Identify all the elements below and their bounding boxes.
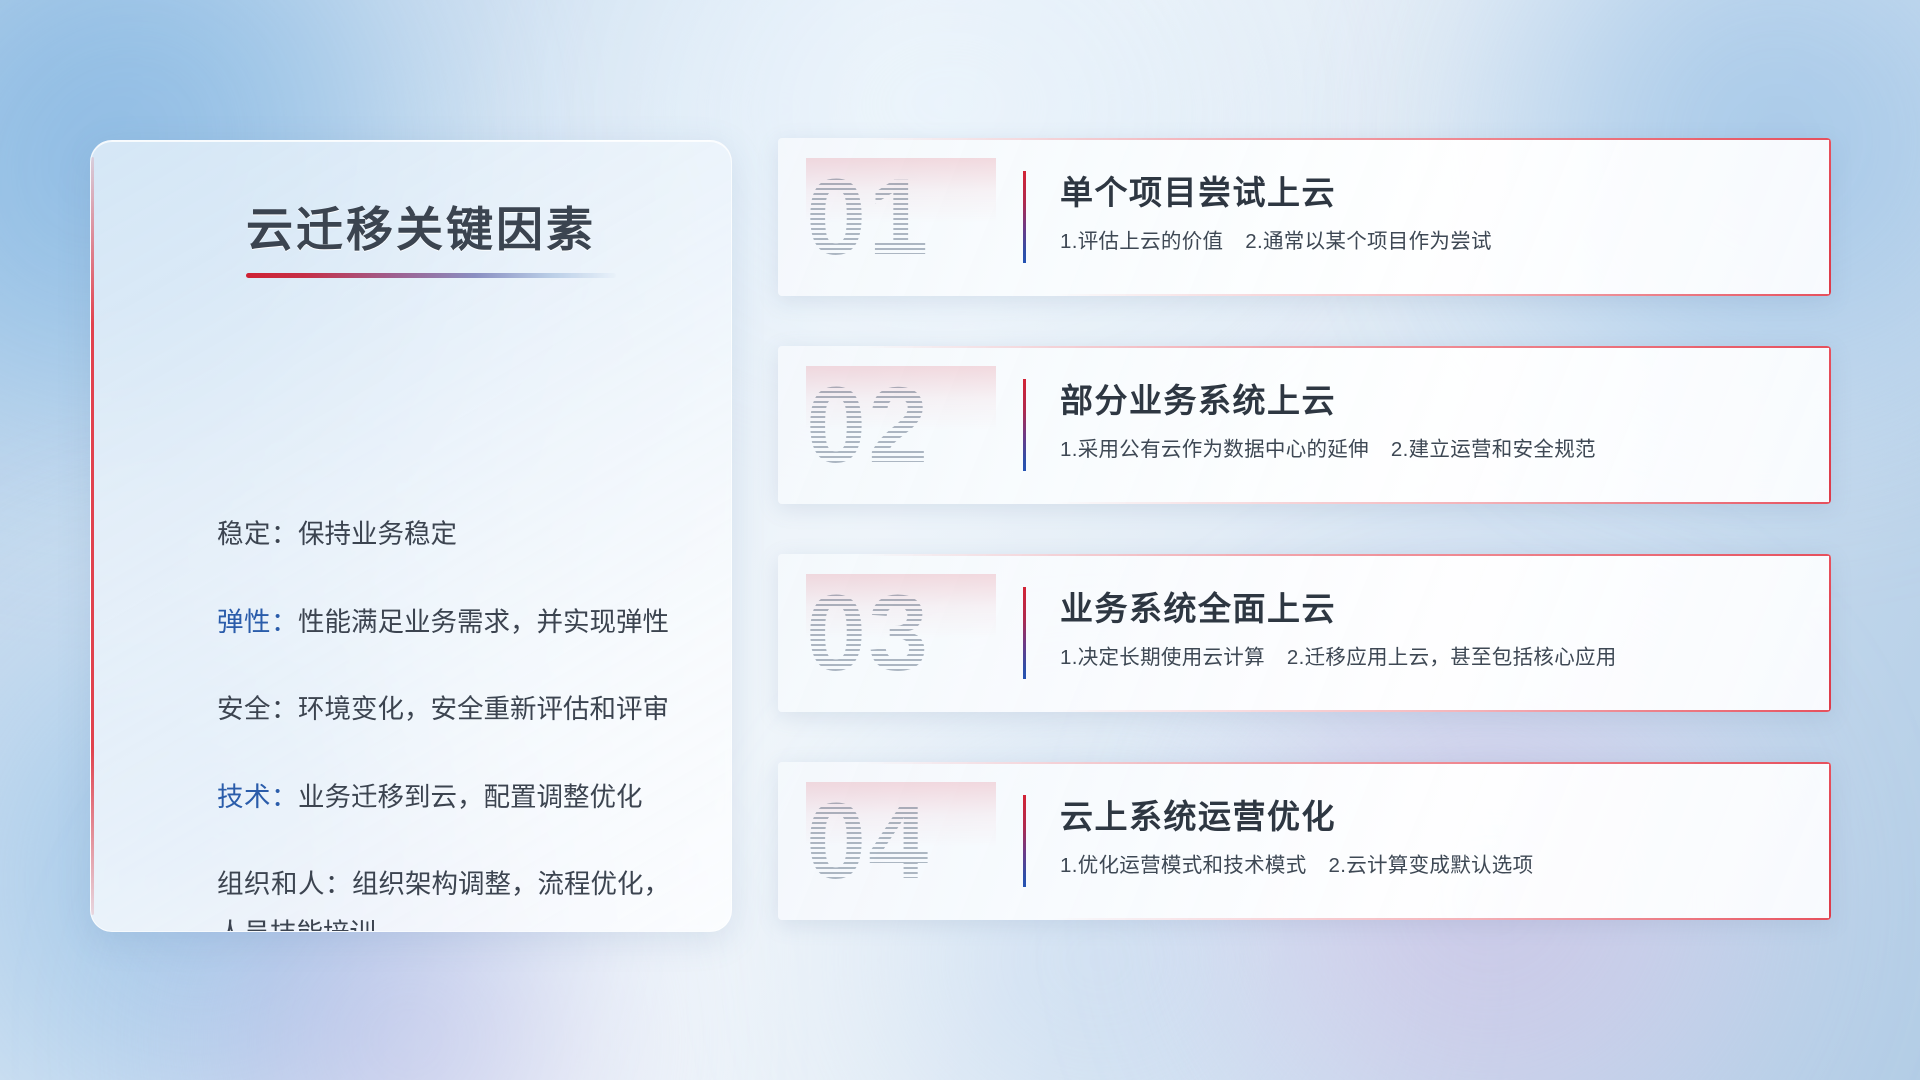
factor-value: 业务迁移到云，配置调整优化: [298, 782, 643, 812]
factor-item-organization: 组织和人：组织架构调整，流程优化，: [217, 871, 701, 898]
stage-points: 1.采用公有云作为数据中心的延伸2.建立运营和安全规范: [1060, 432, 1596, 462]
card-bottom-accent-line: [1052, 710, 1831, 712]
stage-number-watermark: 04: [806, 782, 996, 900]
stage-number-tint: [806, 574, 996, 692]
stage-number-text: 03: [806, 574, 930, 692]
stage-point-2: 2.建立运营和安全规范: [1391, 438, 1596, 461]
card-bottom-accent-line: [1052, 918, 1831, 920]
stage-number-text: 01: [806, 158, 930, 276]
stage-title: 云上系统运营优化: [1060, 790, 1336, 838]
stage-number-text: 04: [806, 782, 930, 900]
stage-number-watermark: 03: [806, 574, 996, 692]
card-right-accent-line: [1829, 762, 1831, 920]
factor-key: 安全：: [217, 694, 298, 724]
stage-number-tint: [806, 158, 996, 276]
factor-key: 组织和人：: [217, 869, 352, 899]
stage-point-2: 2.云计算变成默认选项: [1329, 854, 1534, 877]
factor-list: 稳定：保持业务稳定 弹性：性能满足业务需求，并实现弹性 安全：环境变化，安全重新…: [217, 521, 701, 932]
factor-key: 技术：: [217, 782, 298, 812]
stage-point-1: 1.评估上云的价值: [1060, 230, 1223, 253]
stage-points: 1.优化运营模式和技术模式2.云计算变成默认选项: [1060, 848, 1533, 878]
stage-number-text: 02: [806, 366, 930, 484]
stage-card-list: 01 单个项目尝试上云 1.评估上云的价值2.通常以某个项目作为尝试 02 部分…: [778, 138, 1831, 920]
card-divider-bar: [1023, 795, 1026, 887]
key-factors-panel: 云迁移关键因素 稳定：保持业务稳定 弹性：性能满足业务需求，并实现弹性 安全：环…: [90, 140, 732, 932]
title-underline-rule: [246, 273, 616, 278]
factor-item-stability: 稳定：保持业务稳定: [217, 521, 701, 548]
stage-point-2: 2.迁移应用上云，甚至包括核心应用: [1287, 646, 1617, 669]
factor-item-security: 安全：环境变化，安全重新评估和评审: [217, 696, 701, 723]
factor-value: 保持业务稳定: [298, 519, 457, 549]
stage-points: 1.评估上云的价值2.通常以某个项目作为尝试: [1060, 224, 1492, 254]
card-top-accent-line: [862, 762, 1831, 764]
page-title: 云迁移关键因素: [246, 191, 596, 260]
factor-value: 环境变化，安全重新评估和评审: [298, 694, 669, 724]
card-bottom-accent-line: [1052, 294, 1831, 296]
factor-key: 稳定：: [217, 519, 298, 549]
stage-card-03[interactable]: 03 业务系统全面上云 1.决定长期使用云计算2.迁移应用上云，甚至包括核心应用: [778, 554, 1831, 712]
stage-point-2: 2.通常以某个项目作为尝试: [1245, 230, 1492, 253]
stage-card-04[interactable]: 04 云上系统运营优化 1.优化运营模式和技术模式2.云计算变成默认选项: [778, 762, 1831, 920]
stage-title: 部分业务系统上云: [1060, 374, 1336, 422]
stage-card-01[interactable]: 01 单个项目尝试上云 1.评估上云的价值2.通常以某个项目作为尝试: [778, 138, 1831, 296]
stage-title: 业务系统全面上云: [1060, 582, 1336, 630]
stage-number-tint: [806, 366, 996, 484]
stage-point-1: 1.优化运营模式和技术模式: [1060, 854, 1307, 877]
stage-number-watermark: 01: [806, 158, 996, 276]
card-top-accent-line: [862, 138, 1831, 140]
stage-number-watermark: 02: [806, 366, 996, 484]
card-divider-bar: [1023, 379, 1026, 471]
stage-points: 1.决定长期使用云计算2.迁移应用上云，甚至包括核心应用: [1060, 640, 1617, 670]
card-right-accent-line: [1829, 138, 1831, 296]
card-right-accent-line: [1829, 346, 1831, 504]
factor-item-elasticity: 弹性：性能满足业务需求，并实现弹性: [217, 609, 701, 636]
factor-key: 弹性：: [217, 607, 298, 637]
factor-value: 组织架构调整，流程优化，: [352, 869, 670, 899]
stage-point-1: 1.采用公有云作为数据中心的延伸: [1060, 438, 1369, 461]
card-divider-bar: [1023, 171, 1026, 263]
stage-title: 单个项目尝试上云: [1060, 166, 1336, 214]
card-top-accent-line: [862, 554, 1831, 556]
card-divider-bar: [1023, 587, 1026, 679]
factor-item-technology: 技术：业务迁移到云，配置调整优化: [217, 784, 701, 811]
card-top-accent-line: [862, 346, 1831, 348]
card-bottom-accent-line: [1052, 502, 1831, 504]
card-right-accent-line: [1829, 554, 1831, 712]
stage-card-02[interactable]: 02 部分业务系统上云 1.采用公有云作为数据中心的延伸2.建立运营和安全规范: [778, 346, 1831, 504]
factor-value: 性能满足业务需求，并实现弹性: [298, 607, 669, 637]
factor-item-organization-line2: 人员技能培训: [217, 920, 701, 933]
stage-number-tint: [806, 782, 996, 900]
stage-point-1: 1.决定长期使用云计算: [1060, 646, 1265, 669]
